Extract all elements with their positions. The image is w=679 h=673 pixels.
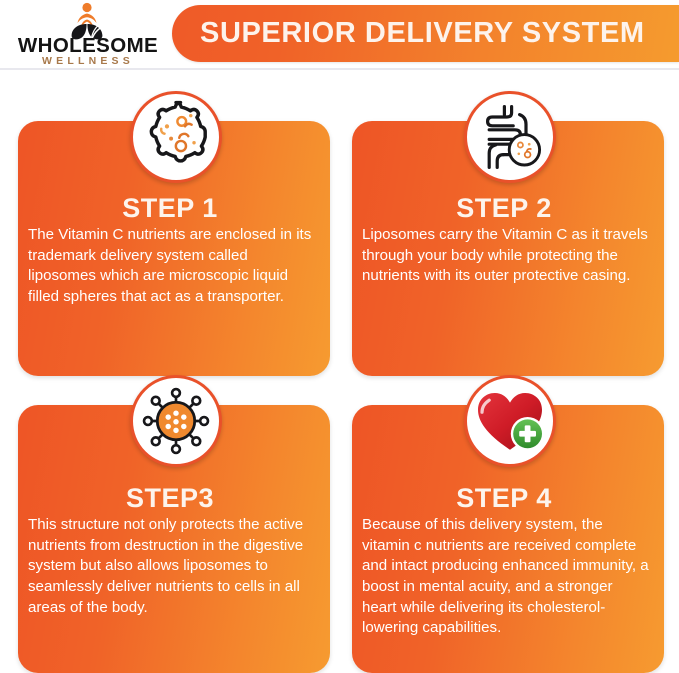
logo-tagline: WELLNESS bbox=[12, 56, 164, 67]
heart-plus-icon bbox=[464, 375, 556, 467]
step-title-3: STEP3 bbox=[14, 485, 326, 512]
liposome-receptor-icon bbox=[130, 375, 222, 467]
step-title-2: STEP 2 bbox=[348, 195, 660, 222]
steps-grid: STEP 1 The Vitamin C nutrients are enclo… bbox=[0, 74, 679, 665]
page-header: WHOLESOME WELLNESS SUPERIOR DELIVERY SYS… bbox=[0, 0, 679, 70]
logo-wordmark: WHOLESOME bbox=[12, 36, 164, 57]
brand-logo: WHOLESOME WELLNESS bbox=[12, 2, 164, 66]
step-card-3: STEP3 This structure not only protects t… bbox=[14, 375, 338, 665]
page-title: SUPERIOR DELIVERY SYSTEM bbox=[200, 5, 673, 62]
step-body-2: Liposomes carry the Vitamin C as it trav… bbox=[362, 225, 650, 287]
step-body-4: Because of this delivery system, the vit… bbox=[362, 515, 650, 639]
step-body-3: This structure not only protects the act… bbox=[28, 515, 316, 618]
step-title-4: STEP 4 bbox=[348, 485, 660, 512]
step-body-1: The Vitamin C nutrients are enclosed in … bbox=[28, 225, 316, 308]
step-title-1: STEP 1 bbox=[14, 195, 326, 222]
step-card-4: STEP 4 Because of this delivery system, … bbox=[348, 375, 672, 665]
title-banner: SUPERIOR DELIVERY SYSTEM bbox=[172, 5, 679, 62]
header-divider bbox=[0, 68, 679, 70]
step-card-1: STEP 1 The Vitamin C nutrients are enclo… bbox=[14, 91, 338, 381]
step-card-2: STEP 2 Liposomes carry the Vitamin C as … bbox=[348, 91, 672, 381]
cell-liposome-gear-icon bbox=[130, 91, 222, 183]
intestines-icon bbox=[464, 91, 556, 183]
